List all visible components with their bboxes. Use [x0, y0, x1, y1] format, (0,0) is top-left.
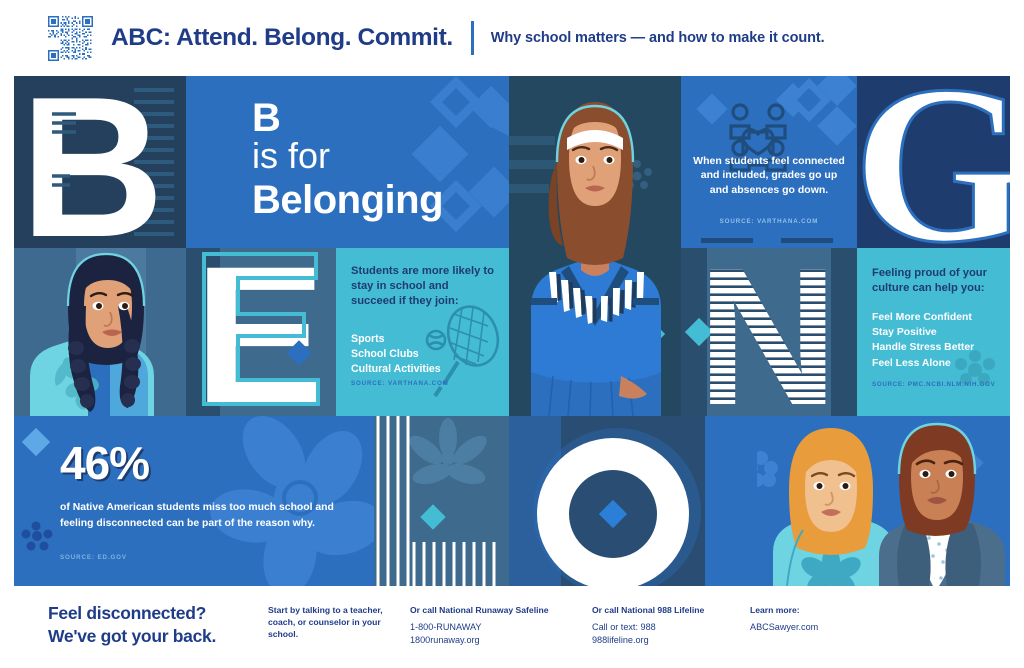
qr-code-icon[interactable]	[48, 16, 93, 61]
hero-word: Belonging	[252, 180, 443, 220]
student-with-braids-illustration	[14, 248, 186, 416]
student-in-jingle-dress-illustration	[509, 76, 681, 416]
footer-column-learn-more: Learn more: ABCSawyer.com	[750, 604, 860, 634]
brand-subtitle: Why school matters — and how to make it …	[491, 30, 825, 46]
poster-artwork: B	[14, 76, 1010, 586]
brand-title: ABC: Attend. Belong. Commit.	[111, 24, 453, 52]
connected-source: SOURCE: VARTHANA.COM	[691, 218, 847, 225]
footer-col-body[interactable]: Call or text: 988 988lifeline.org	[592, 621, 737, 647]
footer-col-head: Learn more:	[750, 604, 860, 616]
join-item: Cultural Activities	[351, 362, 501, 377]
big-letter-l-graphic	[374, 416, 509, 586]
footer-headline: Feel disconnected? We've got your back.	[48, 602, 216, 648]
culture-item: Feel Less Alone	[872, 356, 1010, 371]
big-letter-o-cell	[509, 416, 757, 586]
student-braids-cell	[14, 248, 186, 416]
big-letter-l-cell	[374, 416, 509, 586]
connected-panel: When students feel connected and include…	[681, 76, 857, 248]
culture-item: Handle Stress Better	[872, 340, 1010, 355]
letter-g-text: G	[857, 76, 1010, 248]
footer-col-head: Or call National 988 Lifeline	[592, 604, 737, 616]
footer-headline-line1: Feel disconnected?	[48, 602, 216, 625]
footer-headline-line2: We've got your back.	[48, 625, 216, 648]
svg-text:E: E	[194, 248, 326, 416]
big-letter-n-graphic: N	[681, 248, 857, 416]
big-letter-g-cell: G	[857, 76, 1010, 248]
footer-col-body[interactable]: ABCSawyer.com	[750, 621, 860, 634]
connected-text: When students feel connected and include…	[691, 154, 847, 197]
join-heading: Students are more likely to stay in scho…	[351, 264, 496, 310]
big-letter-e-graphic: E	[186, 248, 336, 416]
culture-source: SOURCE: PMC.NCBI.NLM.NIH.GOV	[872, 381, 995, 388]
stat-body: of Native American students miss too muc…	[60, 500, 360, 531]
poster-header: ABC: Attend. Belong. Commit. Why school …	[0, 0, 1024, 76]
footer-column-school: Start by talking to a teacher, coach, or…	[268, 604, 398, 641]
stat-number: 46%	[60, 440, 149, 486]
join-item: School Clubs	[351, 347, 501, 362]
footer-col-head: Start by talking to a teacher, coach, or…	[268, 604, 398, 641]
join-source: SOURCE: VARTHANA.COM	[351, 380, 449, 387]
culture-heading: Feeling proud of your culture can help y…	[872, 266, 1004, 296]
join-activities-panel: Students are more likely to stay in scho…	[336, 248, 509, 416]
join-list: Sports School Clubs Cultural Activities	[351, 332, 501, 377]
poster: ABC: Attend. Belong. Commit. Why school …	[0, 0, 1024, 668]
culture-panel: Feeling proud of your culture can help y…	[857, 248, 1010, 416]
hero-letter: B	[252, 98, 281, 138]
poster-footer: Feel disconnected? We've got your back. …	[0, 586, 1024, 668]
footer-column-runaway: Or call National Runaway Safeline 1-800-…	[410, 604, 585, 648]
stat-panel: 46% of Native American students miss too…	[14, 416, 374, 586]
big-letter-e-cell: E	[186, 248, 336, 416]
hero-isfor: is for	[252, 138, 330, 174]
culture-item: Feel More Confident	[872, 310, 1010, 325]
footer-col-body[interactable]: 1-800-RUNAWAY 1800runaway.org	[410, 621, 585, 647]
big-letter-n-cell: N	[681, 248, 857, 416]
svg-text:N: N	[697, 248, 839, 416]
culture-item: Stay Positive	[872, 325, 1010, 340]
hero-panel: B is for Belonging	[224, 76, 509, 248]
two-students-cell	[757, 416, 1010, 586]
big-letter-b-cell: B	[14, 76, 186, 248]
big-letter-b-graphic: B	[14, 76, 186, 248]
stat-source: SOURCE: ED.GOV	[60, 554, 127, 561]
b-letter-gap	[186, 76, 224, 248]
culture-list: Feel More Confident Stay Positive Handle…	[872, 310, 1010, 371]
header-divider	[471, 21, 474, 55]
footer-col-head: Or call National Runaway Safeline	[410, 604, 585, 616]
two-students-illustration	[757, 416, 1010, 586]
footer-column-988: Or call National 988 Lifeline Call or te…	[592, 604, 737, 648]
big-letter-o-graphic	[509, 416, 757, 586]
join-item: Sports	[351, 332, 501, 347]
student-regalia-cell	[509, 76, 681, 416]
svg-text:B: B	[20, 76, 164, 248]
big-letter-g-graphic: G	[857, 76, 1010, 248]
